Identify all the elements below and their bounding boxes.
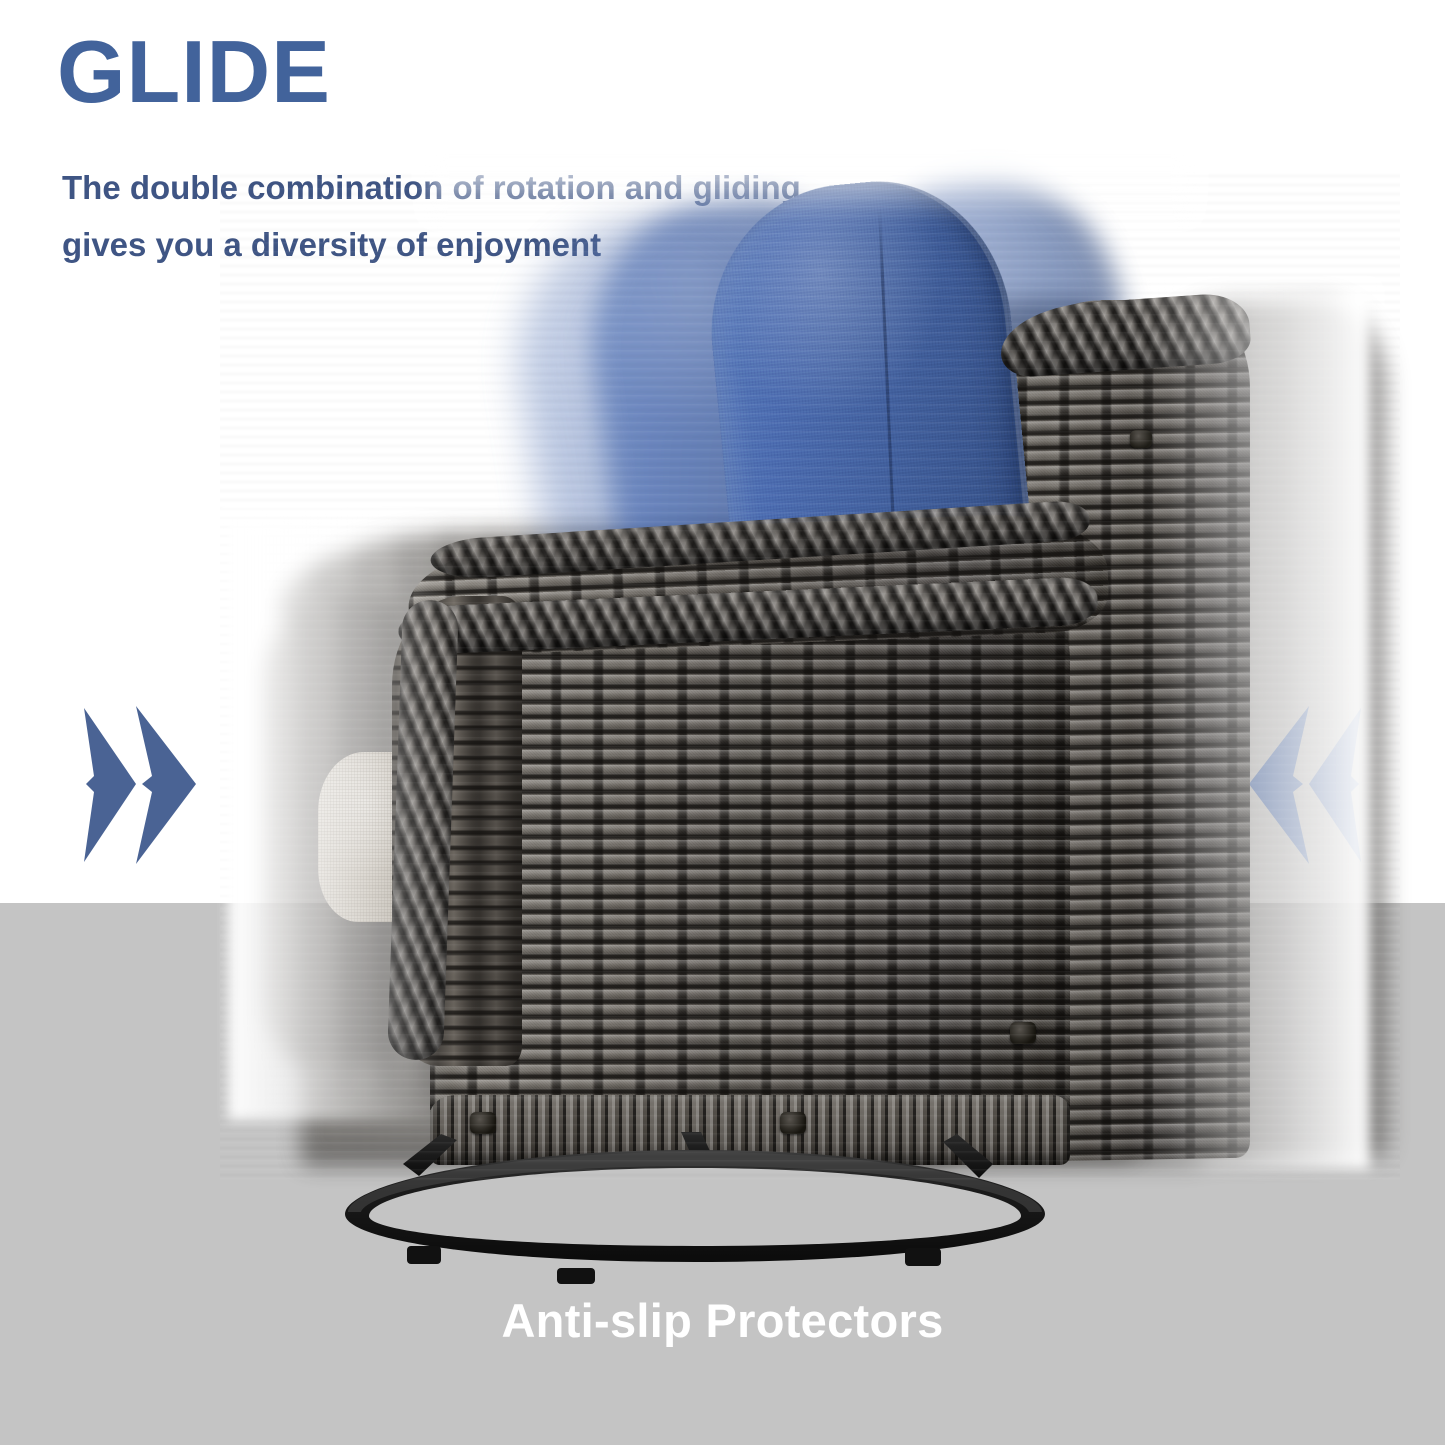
frame-bolt-right [1010, 1022, 1036, 1044]
chair-side-panel [430, 600, 1070, 1160]
double-chevron-right-icon [60, 700, 210, 870]
anti-slip-foot-right [905, 1248, 941, 1266]
page-title: GLIDE [57, 28, 331, 116]
swivel-base [345, 1128, 1045, 1278]
double-chevron-left-icon [1235, 700, 1385, 870]
anti-slip-caption: Anti-slip Protectors [0, 1293, 1445, 1348]
product-feature-image: GLIDE The double combination of rotation… [0, 0, 1445, 1445]
frame-bolt-back [1130, 430, 1152, 448]
anti-slip-foot-front-left [557, 1268, 595, 1284]
anti-slip-foot-left [407, 1246, 441, 1264]
